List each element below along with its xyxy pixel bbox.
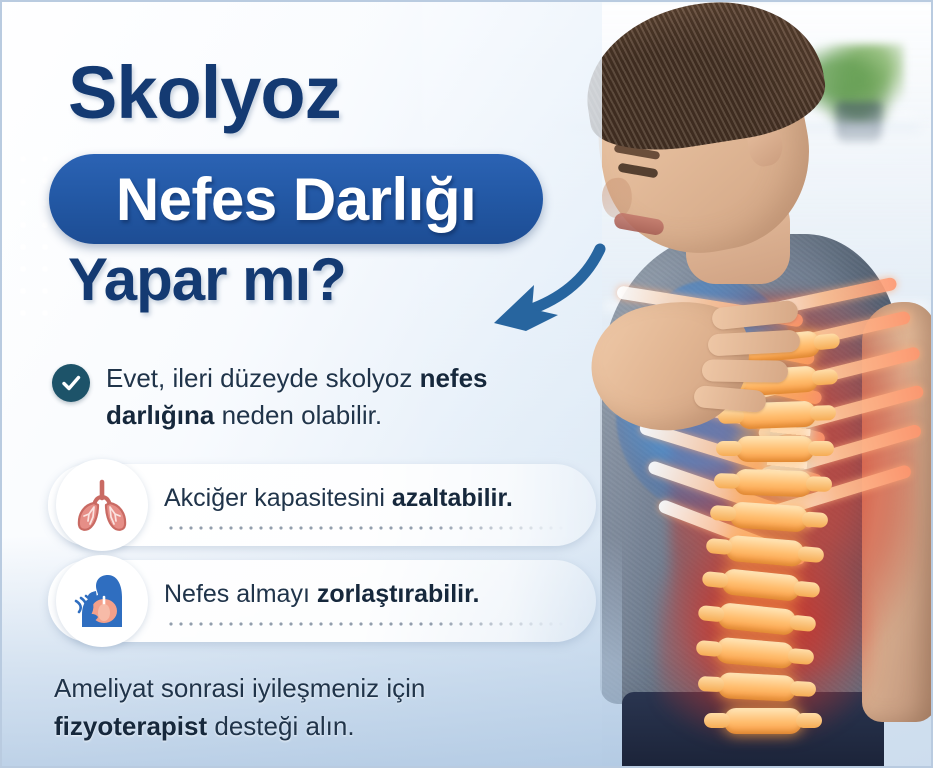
headline-line-3: Yapar mı? xyxy=(68,245,346,314)
dot-grid-pattern xyxy=(8,144,64,326)
infographic-poster: Skolyoz Nefes Darlığı Yapar mı? Evet, il… xyxy=(0,0,933,768)
footer-bold: fizyoterapist xyxy=(54,711,207,741)
feature-card-text: Akciğer kapasitesini azaltabilir. xyxy=(164,484,513,513)
footer-tail: desteği alın. xyxy=(207,711,354,741)
feature-text-bold: zorlaştırabilir. xyxy=(317,580,480,608)
answer-text-plain: Evet, ileri düzeyde skolyoz xyxy=(106,363,420,393)
lungs-icon xyxy=(56,459,148,551)
card-dotted-divider xyxy=(166,622,566,626)
footer-advice: Ameliyat sonrasi iyileşmeniz için fizyot… xyxy=(54,670,425,745)
feature-text-plain: Nefes almayı xyxy=(164,580,317,608)
feature-card-text: Nefes almayı zorlaştırabilir. xyxy=(164,580,479,609)
answer-text: Evet, ileri düzeyde skolyoz nefes darlığ… xyxy=(106,360,592,434)
answer-text-tail: neden olabilir. xyxy=(214,400,382,430)
check-circle-icon xyxy=(52,364,90,402)
finger xyxy=(702,359,788,382)
breathing-person-icon xyxy=(56,555,148,647)
answer-row: Evet, ileri düzeyde skolyoz nefes darlığ… xyxy=(52,360,592,434)
feature-card-lung-capacity: Akciğer kapasitesini azaltabilir. xyxy=(48,464,596,546)
feature-card-breathing-difficulty: Nefes almayı zorlaştırabilir. xyxy=(48,560,596,642)
footer-line-1: Ameliyat sonrasi iyileşmeniz için xyxy=(54,670,425,708)
feature-text-bold: azaltabilir. xyxy=(392,484,513,512)
headline-pill-label: Nefes Darlığı xyxy=(116,165,476,234)
card-dotted-divider xyxy=(166,526,566,530)
feature-text-plain: Akciğer kapasitesini xyxy=(164,484,392,512)
footer-line-2: fizyoterapist desteği alın. xyxy=(54,708,425,746)
headline-pill: Nefes Darlığı xyxy=(49,154,543,244)
headline-line-1: Skolyoz xyxy=(68,50,341,135)
